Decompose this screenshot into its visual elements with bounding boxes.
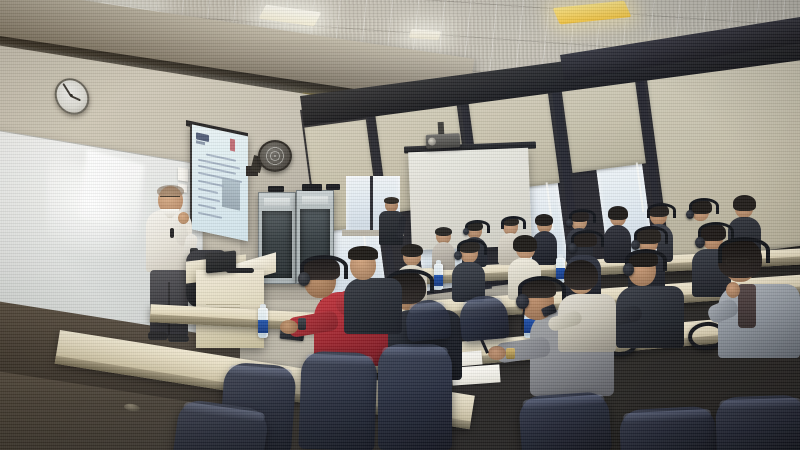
back-window-mullion (370, 176, 373, 232)
booth-equipment-1 (268, 186, 284, 192)
chair-front-3[interactable] (378, 344, 452, 450)
fan-grill-icon (263, 145, 287, 167)
booth-equipment-3 (326, 184, 340, 190)
wall-fan (258, 140, 292, 172)
attendee-mid-short-hair-torso (344, 278, 402, 334)
booth-equipment-2 (302, 184, 322, 191)
slide-accent-mark (230, 139, 235, 152)
chair-right-2-rim (623, 409, 711, 424)
attendee-back-1-hair (435, 227, 452, 236)
attendee-row3-2-headset-cup (454, 251, 462, 260)
lectern-cables (226, 268, 254, 273)
slide-text-line-6 (198, 188, 218, 194)
conference-room-photo: Conference interpretation training sessi… (0, 0, 800, 450)
chair-row2-2-rim (409, 301, 446, 314)
attendee-back-7-headset (647, 203, 676, 218)
chair-right-1-rim (522, 394, 604, 410)
attendee-grey-sweater-watch (506, 348, 515, 359)
attendee-back-9-hair (733, 195, 756, 211)
attendee-back-5-headset (569, 209, 596, 223)
wall-notice-1 (178, 167, 188, 182)
attendee-back-3-headset (501, 216, 526, 229)
chair-far-right-rim (719, 398, 800, 411)
attendee-grey-sweater-hand (488, 346, 506, 360)
attendee-red-hoodie-hand (280, 320, 298, 334)
attendee-mid-short-hair-hair (348, 246, 378, 260)
attendee-row3-1-hair (401, 244, 423, 257)
bottle-cap-r3-1 (436, 260, 441, 264)
presenter-shoe-left (148, 332, 168, 340)
attendee-back-4-hair (535, 214, 553, 226)
attendee-grey-blazer-hand (726, 282, 740, 298)
attendee-row3-5-headset-cup (631, 240, 640, 250)
attendee-grey-blazer-scarf (738, 284, 756, 328)
attendee-grey-sweater-headset-cup (516, 294, 529, 309)
attendee-back-8-headset-cup (686, 210, 694, 219)
booth-header-panel-1 (264, 198, 290, 206)
presenter-shoe-right (168, 334, 189, 342)
attendee-row2-vest-headset-cup (623, 263, 634, 276)
water-bottle-r1-1[interactable] (258, 308, 268, 338)
booth-header-panel-2 (302, 196, 328, 204)
presenter-hand (178, 212, 189, 224)
slide-text-line-8 (198, 204, 216, 210)
attendee-back-6-hair (608, 206, 628, 220)
attendee-red-hoodie-headset-cup (298, 272, 310, 286)
standing-person-hair (384, 197, 399, 204)
slide-image-block (222, 177, 240, 211)
attendee-back-2-headset-cup (463, 228, 469, 235)
slide-text-line-5 (198, 180, 224, 188)
chair-right-2[interactable] (619, 406, 718, 450)
chair-front-2-rim (305, 354, 373, 366)
attendee-grey-blazer-headset (718, 237, 770, 263)
attendee-grey-blazer (700, 240, 800, 350)
attendee-mid-short-hair (332, 248, 404, 328)
bottle-label-r1-1 (258, 320, 268, 333)
attendee-back-5-headset-cup (566, 219, 573, 227)
chair-row2-1[interactable] (458, 294, 510, 342)
clock-center-pin (69, 94, 72, 97)
attendee-red-hoodie-watch (298, 318, 306, 330)
attendee-row2-phone-user (548, 262, 618, 348)
presenter-glasses-icon (160, 196, 180, 201)
presenter-lapel-mic (170, 228, 174, 238)
attendee-row3-4-headset-cup (568, 243, 577, 253)
ceiling-projector (426, 133, 461, 149)
slide-logo-subtext (196, 140, 205, 145)
attendee-row2-phone-user-hair (564, 260, 598, 290)
chair-front-3-rim (382, 347, 448, 357)
projector-lens-icon (428, 137, 436, 145)
slide-text-line-9 (198, 212, 222, 219)
chair-far-right[interactable] (715, 394, 800, 450)
chair-right-1[interactable] (518, 391, 612, 450)
chair-front-2[interactable] (298, 351, 377, 450)
slide-text-line-7 (198, 196, 220, 203)
chair-row2-1-rim (462, 297, 503, 310)
bottle-cap-r1-1 (260, 304, 266, 308)
attendee-row3-3-hair (513, 235, 537, 252)
bottle-cap-r3-2 (558, 254, 563, 258)
chair-front-1-rim (228, 365, 293, 379)
chair-row2-2[interactable] (404, 298, 451, 342)
